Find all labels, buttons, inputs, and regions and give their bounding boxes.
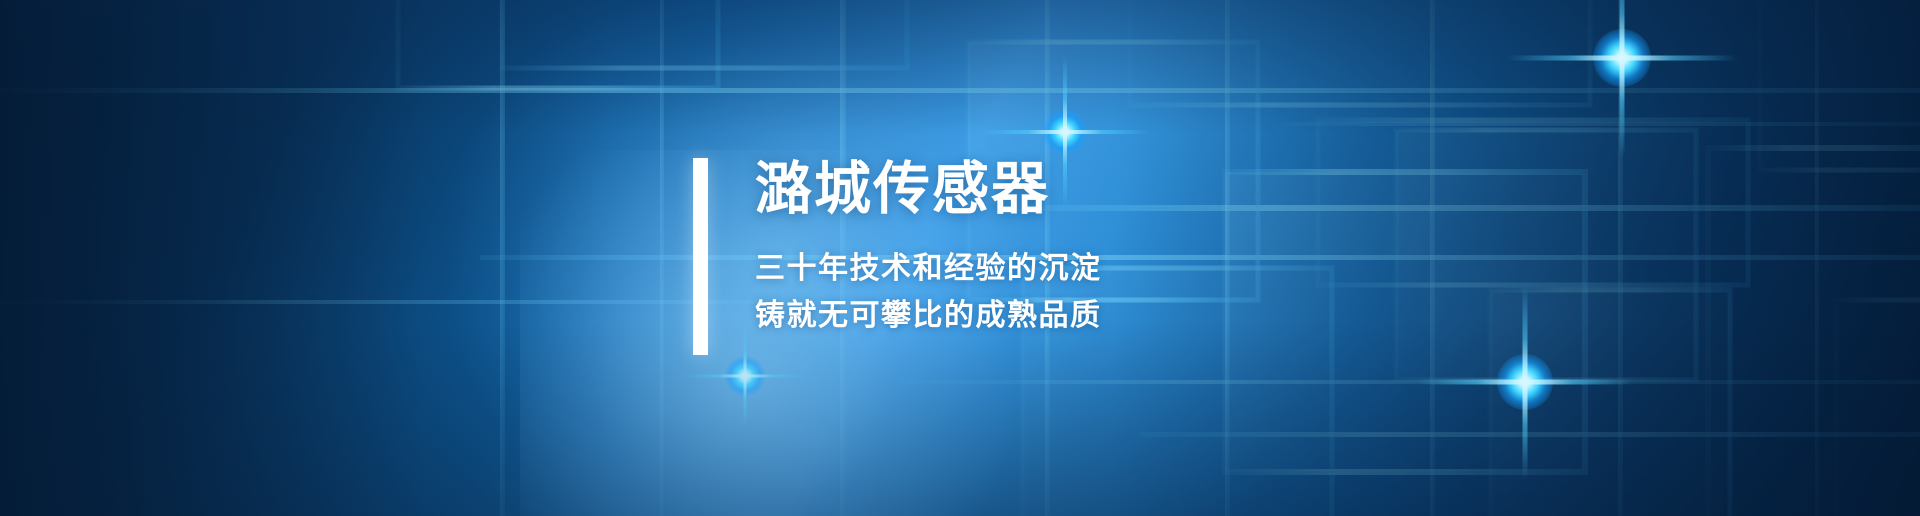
banner-subtitle-line-2: 铸就无可攀比的成熟品质: [755, 293, 1102, 338]
accent-bar: [693, 158, 708, 355]
banner-subtitle-line-1: 三十年技术和经验的沉淀: [755, 246, 1102, 291]
hero-banner: 潞城传感器 三十年技术和经验的沉淀 铸就无可攀比的成熟品质: [0, 0, 1920, 516]
page-title: 潞城传感器: [755, 158, 1102, 220]
banner-text-column: 潞城传感器 三十年技术和经验的沉淀 铸就无可攀比的成熟品质: [755, 158, 1102, 355]
banner-copy-block: 潞城传感器 三十年技术和经验的沉淀 铸就无可攀比的成熟品质: [693, 158, 1102, 355]
